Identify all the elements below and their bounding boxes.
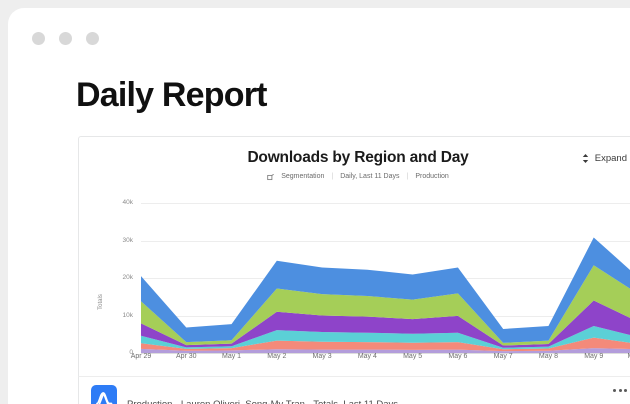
chart-title: Downloads by Region and Day	[79, 149, 630, 167]
chart-subtitle: Segmentation | Daily, Last 11 Days | Pro…	[79, 173, 630, 180]
x-axis-tick: Apr 29	[120, 353, 162, 360]
expand-button-label: Expand	[595, 153, 627, 164]
segmentation-icon	[267, 174, 274, 181]
window-dot-minimize-icon[interactable]	[59, 32, 72, 45]
window-controls	[32, 32, 99, 45]
window-dot-maximize-icon[interactable]	[86, 32, 99, 45]
more-options-icon[interactable]	[613, 389, 627, 392]
x-axis-tick: May 9	[573, 353, 615, 360]
chart-plot-area: Totals 010k20k30k40k Apr 29Apr 30May 1Ma…	[79, 195, 630, 404]
x-axis-tick: Apr 30	[165, 353, 207, 360]
window-dot-close-icon[interactable]	[32, 32, 45, 45]
x-axis-tick: May 10	[618, 353, 630, 360]
chevron-up-down-icon	[581, 153, 590, 164]
chart-card-header: Downloads by Region and Day Segmentation…	[79, 137, 630, 195]
x-axis-tick: May 7	[482, 353, 524, 360]
x-axis-tick: May 4	[346, 353, 388, 360]
x-axis-tick: May 5	[392, 353, 434, 360]
subtitle-project: Production	[415, 173, 448, 180]
chart-card: Downloads by Region and Day Segmentation…	[78, 136, 630, 404]
x-axis-tick: May 8	[527, 353, 569, 360]
stacked-area-series	[79, 195, 630, 404]
amplitude-logo-icon	[91, 385, 117, 404]
footer-description: Production · Lauren Oliveri, Song-My Tra…	[127, 399, 398, 404]
subtitle-divider-2: |	[407, 173, 409, 180]
x-axis-tick: May 2	[256, 353, 298, 360]
browser-window: Daily Report Downloads by Region and Day…	[8, 8, 630, 404]
subtitle-divider-1: |	[331, 173, 333, 180]
page-title: Daily Report	[76, 76, 267, 115]
chart-card-footer: Production · Lauren Oliveri, Song-My Tra…	[78, 376, 630, 404]
subtitle-segmentation: Segmentation	[281, 173, 324, 180]
x-axis-tick: May 3	[301, 353, 343, 360]
expand-button[interactable]: Expand	[581, 153, 627, 164]
subtitle-range: Daily, Last 11 Days	[340, 173, 399, 180]
screenshot-root: Daily Report Downloads by Region and Day…	[0, 0, 630, 404]
x-axis-tick: May 1	[211, 353, 253, 360]
x-axis-tick: May 6	[437, 353, 479, 360]
